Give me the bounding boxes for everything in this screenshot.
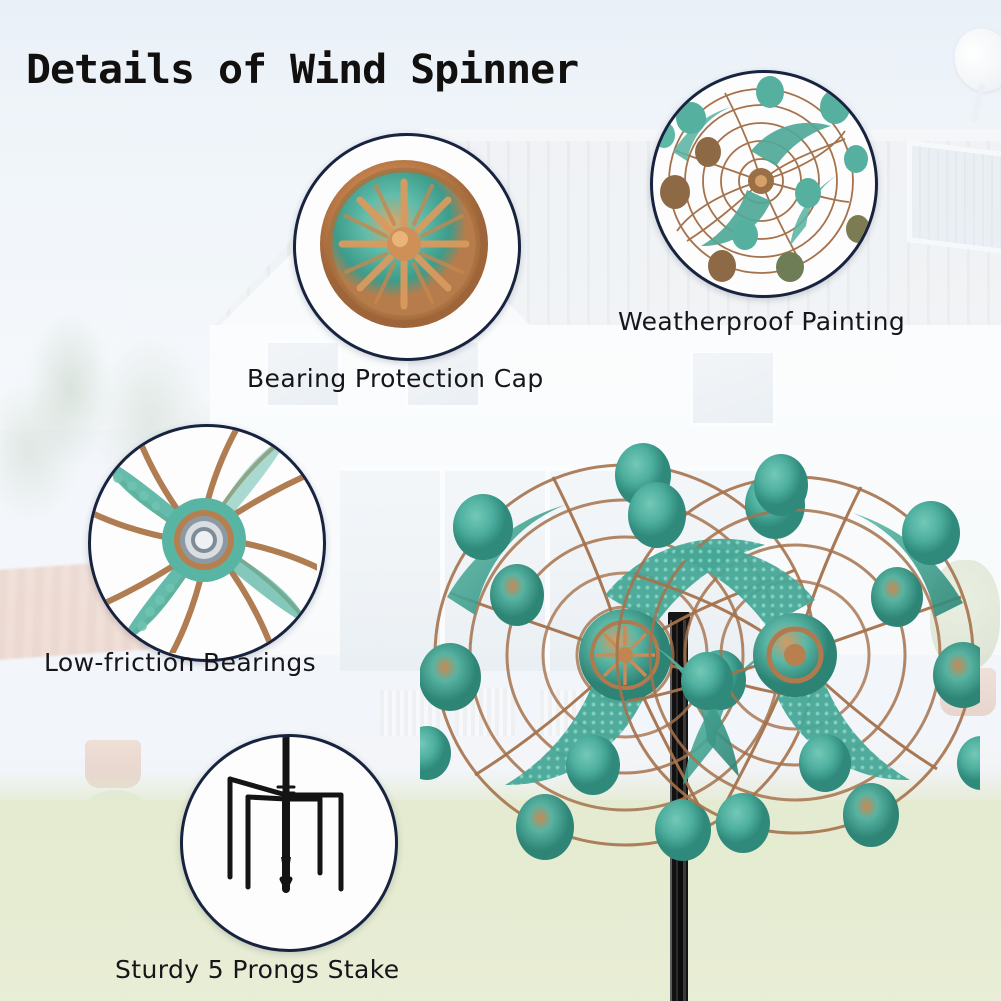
weatherproof-painting-bubble[interactable] bbox=[650, 70, 878, 298]
infographic-canvas: Bearing Protection Cap bbox=[0, 0, 1001, 1001]
bearing-cap-medallion-icon bbox=[296, 136, 512, 352]
rotor-right-hub bbox=[753, 613, 837, 697]
spinner-rotor-front-view-icon bbox=[653, 73, 869, 289]
five-prong-ground-stake-icon bbox=[183, 737, 389, 943]
low-friction-bearings-label: Low-friction Bearings bbox=[44, 648, 316, 677]
page-title: Details of Wind Spinner bbox=[26, 47, 578, 93]
weatherproof-painting-label: Weatherproof Painting bbox=[618, 307, 905, 336]
bearing-cap-on-product bbox=[579, 609, 671, 701]
bearing-hub-closeup-icon bbox=[91, 427, 317, 653]
spinner-illustration bbox=[420, 355, 980, 915]
bearing-cap-bubble[interactable] bbox=[293, 133, 521, 361]
sturdy-5-prongs-stake-label: Sturdy 5 Prongs Stake bbox=[115, 955, 400, 984]
bearing-protection-cap-label: Bearing Protection Cap bbox=[247, 364, 544, 393]
low-friction-bearings-bubble[interactable] bbox=[88, 424, 326, 662]
wind-spinner-product bbox=[420, 355, 980, 915]
five-prong-stake-bubble[interactable] bbox=[180, 734, 398, 952]
